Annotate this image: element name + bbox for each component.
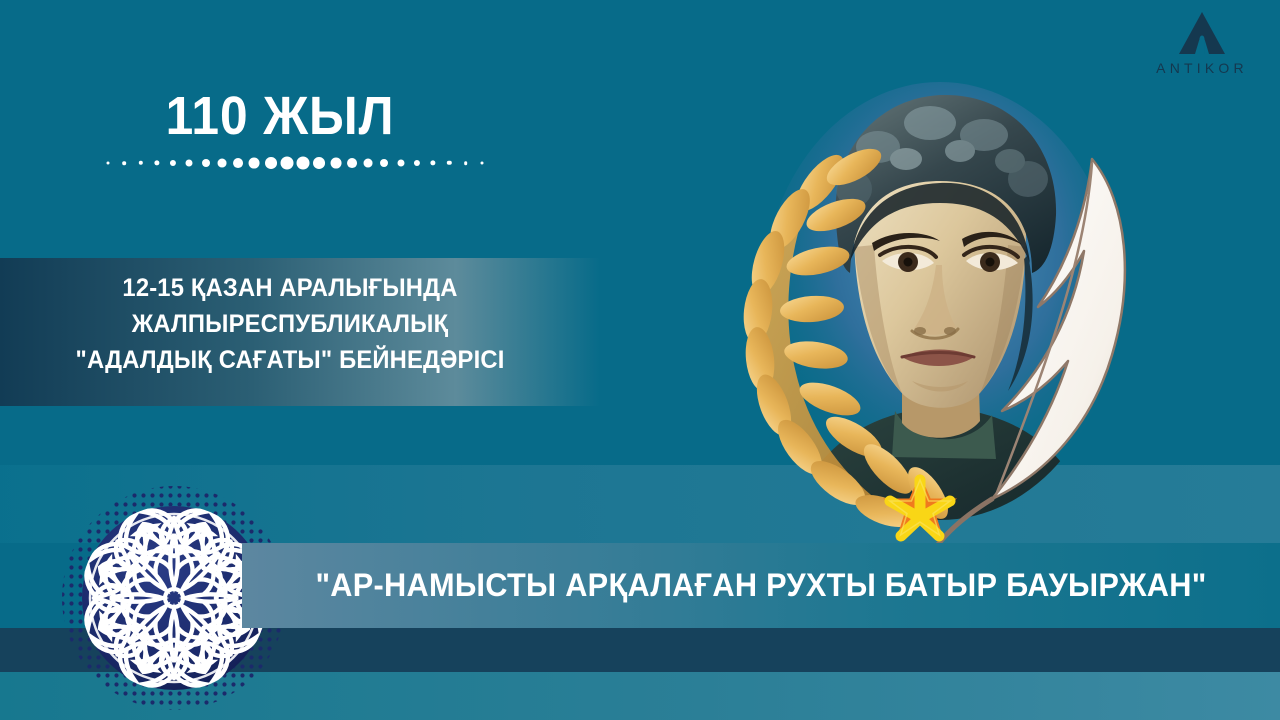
decorative-dot [364, 159, 373, 168]
portrait-composition [640, 55, 1200, 555]
decorative-dot [464, 161, 468, 165]
decorative-dot [122, 161, 126, 165]
info-banner-line-2: ЖАЛПЫРЕСПУБЛИКАЛЫҚ [15, 306, 566, 342]
decorative-dot [313, 157, 325, 169]
decorative-dot [233, 158, 243, 168]
page-title: 110 ЖЫЛ [22, 88, 537, 145]
decorative-dot [186, 159, 193, 166]
decorative-dot [249, 158, 260, 169]
decorative-dot [380, 159, 388, 167]
decorative-dot [297, 157, 310, 170]
info-banner-text: 12-15 ҚАЗАН АРАЛЫҒЫНДА ЖАЛПЫРЕСПУБЛИКАЛЫ… [15, 270, 566, 378]
decorative-dot [431, 160, 436, 165]
decorative-dot [280, 157, 293, 170]
decorative-dot [414, 160, 420, 166]
decorative-dot [154, 160, 159, 165]
decorative-dot [347, 158, 357, 168]
info-banner-line-3: "АДАЛДЫҚ САҒАТЫ" БЕЙНЕДӘРІСІ [15, 342, 566, 378]
decorative-dot [202, 159, 210, 167]
decorative-dot [138, 161, 142, 165]
decorative-dot [107, 162, 110, 165]
decorative-dot [170, 160, 176, 166]
info-banner-line-1: 12-15 ҚАЗАН АРАЛЫҒЫНДА [15, 270, 566, 306]
decorative-dot-row [100, 152, 490, 174]
decorative-dot [217, 159, 226, 168]
decorative-dot [481, 162, 484, 165]
poster-canvas: ANTIKOR 110 ЖЫЛ 12-15 ҚАЗАН АРАЛЫҒЫНДА Ж… [0, 0, 1280, 720]
decorative-dot [330, 158, 341, 169]
decorative-dot [447, 161, 451, 165]
antikor-a-mark-icon [1179, 12, 1225, 54]
title-banner-text: "АР-НАМЫСТЫ АРҚАЛАҒАН РУХТЫ БАТЫР БАУЫРЖ… [263, 543, 1259, 628]
decorative-dot [265, 157, 277, 169]
decorative-dot [397, 159, 404, 166]
portrait-illustration [640, 55, 1200, 555]
